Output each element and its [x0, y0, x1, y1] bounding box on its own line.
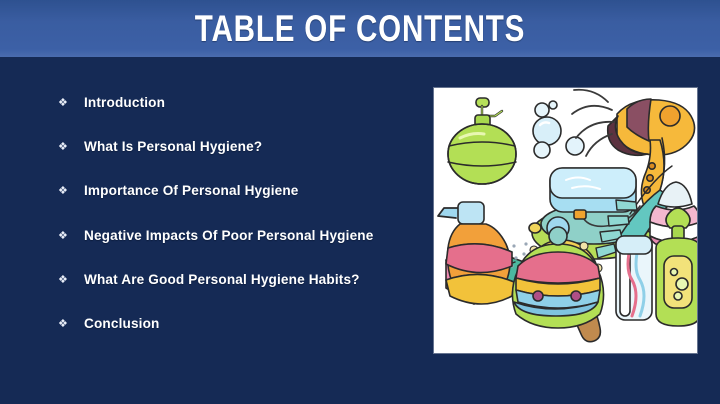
list-item[interactable]: ❖ What Are Good Personal Hygiene Habits? — [58, 270, 433, 314]
deodorant-stick-icon — [616, 236, 652, 320]
hygiene-items-illustration — [434, 88, 697, 353]
list-item[interactable]: ❖ Importance Of Personal Hygiene — [58, 181, 433, 225]
list-item-label: Conclusion — [84, 314, 160, 333]
diamond-bullet-icon: ❖ — [58, 270, 84, 290]
diamond-bullet-icon: ❖ — [58, 93, 84, 113]
list-item-label: What Are Good Personal Hygiene Habits? — [84, 270, 360, 289]
list-item-label: Negative Impacts Of Poor Personal Hygien… — [84, 226, 373, 245]
list-item[interactable]: ❖ Introduction — [58, 93, 433, 137]
diamond-bullet-icon: ❖ — [58, 314, 84, 334]
slide-header-band: TABLE OF CONTENTS — [0, 0, 720, 57]
table-of-contents-list: ❖ Introduction ❖ What Is Personal Hygien… — [58, 93, 433, 358]
list-item[interactable]: ❖ Conclusion — [58, 314, 433, 358]
list-item[interactable]: ❖ What Is Personal Hygiene? — [58, 137, 433, 181]
list-item[interactable]: ❖ Negative Impacts Of Poor Personal Hygi… — [58, 226, 433, 270]
presentation-slide: TABLE OF CONTENTS ❖ Introduction ❖ What … — [0, 0, 720, 404]
diamond-bullet-icon: ❖ — [58, 181, 84, 201]
list-item-label: Introduction — [84, 93, 165, 112]
diamond-bullet-icon: ❖ — [58, 137, 84, 157]
diamond-bullet-icon: ❖ — [58, 226, 84, 246]
page-title: TABLE OF CONTENTS — [72, 5, 648, 52]
slide-body: ❖ Introduction ❖ What Is Personal Hygien… — [0, 57, 720, 404]
list-item-label: What Is Personal Hygiene? — [84, 137, 262, 156]
list-item-label: Importance Of Personal Hygiene — [84, 181, 299, 200]
